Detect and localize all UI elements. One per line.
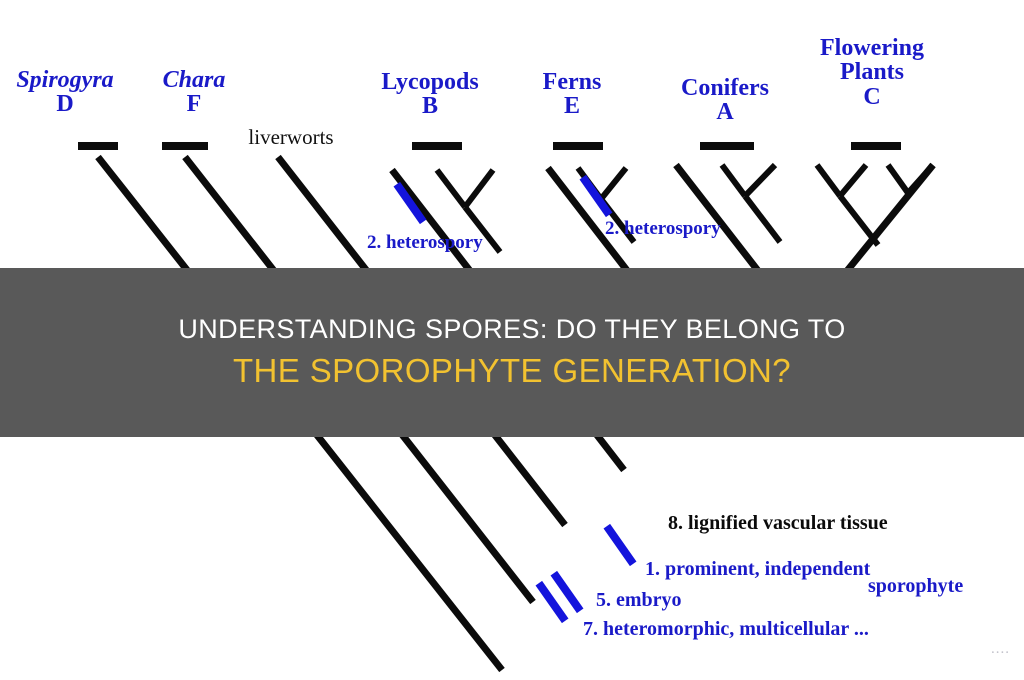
- branch-lycopods-left: [437, 170, 465, 207]
- branch-angio-left-b: [840, 165, 866, 196]
- branch-conifers-sub: [745, 196, 780, 242]
- banner-line-1: UNDERSTANDING SPORES: DO THEY BELONG TO: [178, 314, 845, 346]
- branch-lycopods-sub: [465, 207, 500, 252]
- branch-conifers-left: [722, 165, 745, 196]
- tick-lignified: [607, 526, 633, 564]
- branch-conifers-right: [745, 165, 775, 196]
- branch-angio-right-a: [888, 165, 908, 193]
- branch-lycopods-right: [465, 170, 493, 207]
- title-banner: UNDERSTANDING SPORES: DO THEY BELONG TO …: [0, 268, 1024, 437]
- branch-ferns-right: [601, 168, 626, 199]
- cladogram-figure: SpirogyraDCharaFliverwortsLycopodsBFerns…: [0, 0, 1024, 680]
- branch-angio-left-a: [817, 165, 840, 196]
- banner-line-2: THE SPOROPHYTE GENERATION?: [233, 352, 791, 391]
